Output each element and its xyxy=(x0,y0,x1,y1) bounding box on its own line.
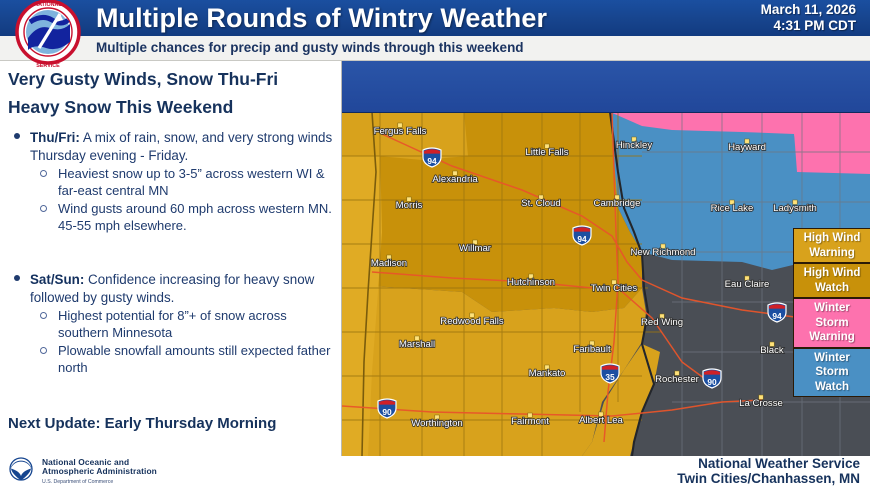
subbullet-text: Highest potential for 8”+ of snow across… xyxy=(58,308,287,340)
map-city-label: Hayward xyxy=(728,139,766,153)
header-date: March 11, 2026 xyxy=(646,2,856,18)
bullet-lead: Sat/Sun: xyxy=(30,272,84,287)
legend-label-line: Warning xyxy=(795,330,869,345)
headline-2: Heavy Snow This Weekend xyxy=(8,97,233,118)
subbullet-ring xyxy=(40,170,47,177)
svg-text:New Richmond: New Richmond xyxy=(630,247,695,258)
legend-item-winter-storm-watch[interactable]: Winter Storm Watch xyxy=(793,348,870,398)
subheader-text: Multiple chances for precip and gusty wi… xyxy=(96,36,524,60)
subbullet: Wind gusts around 60 mph across western … xyxy=(38,200,338,234)
map-city-label: Black xyxy=(760,342,784,356)
svg-text:Hutchinson: Hutchinson xyxy=(507,277,555,288)
subbullet-ring xyxy=(40,312,47,319)
svg-text:Rice Lake: Rice Lake xyxy=(711,203,754,214)
subbullet-text: Wind gusts around 60 mph across western … xyxy=(58,201,332,233)
svg-text:90: 90 xyxy=(382,407,392,417)
subbullet: Highest potential for 8”+ of snow across… xyxy=(38,307,338,341)
map-city-label: Willmar xyxy=(459,240,492,254)
left-text-panel: Very Gusty Winds, Snow Thu-Fri Heavy Sno… xyxy=(0,61,341,456)
legend-item-high-wind-watch[interactable]: High Wind Watch xyxy=(793,263,870,298)
svg-text:Cambridge: Cambridge xyxy=(594,198,641,209)
nws-office-text: National Weather Service Twin Cities/Cha… xyxy=(677,456,860,486)
svg-text:94: 94 xyxy=(427,156,437,166)
header-time: 4:31 PM CDT xyxy=(646,18,856,34)
map-city-label: Faribault xyxy=(573,341,611,355)
svg-text:Fergus Falls: Fergus Falls xyxy=(374,126,427,137)
legend-label-line: Winter xyxy=(795,351,869,366)
subbullet-text: Plowable snowfall amounts still expected… xyxy=(58,343,330,375)
bullet-dot xyxy=(14,133,20,139)
svg-text:NATIONAL: NATIONAL xyxy=(34,2,62,8)
svg-text:Hinckley: Hinckley xyxy=(616,140,652,151)
map-city-label: Rochester xyxy=(655,371,700,385)
map-title-bar xyxy=(342,61,870,113)
svg-text:Ladysmith: Ladysmith xyxy=(773,203,817,214)
nws-circular-logo-icon: NATIONAL SERVICE xyxy=(6,0,90,70)
svg-text:Willmar: Willmar xyxy=(459,243,492,254)
svg-text:SERVICE: SERVICE xyxy=(36,63,60,69)
svg-text:Marshall: Marshall xyxy=(399,339,435,350)
svg-text:Hayward: Hayward xyxy=(728,142,766,153)
legend-item-winter-storm-warning[interactable]: Winter Storm Warning xyxy=(793,298,870,348)
map-city-label: La Crosse xyxy=(739,395,783,409)
subbullet: Plowable snowfall amounts still expected… xyxy=(38,342,338,376)
interstate-shield-icon: 94 xyxy=(573,226,591,245)
legend-label-line: High Wind xyxy=(795,231,869,246)
interstate-shield-icon: 35 xyxy=(601,364,619,383)
legend-label-line: Warning xyxy=(795,246,869,261)
svg-text:90: 90 xyxy=(707,377,717,387)
map-legend: High Wind Warning High Wind Watch Winter… xyxy=(793,228,870,397)
svg-text:La Crosse: La Crosse xyxy=(739,398,783,409)
map-city-label: Twin Cities xyxy=(591,280,638,294)
legend-label-line: Watch xyxy=(795,281,869,296)
interstate-shield-icon: 90 xyxy=(703,369,721,388)
page-title: Multiple Rounds of Wintry Weather xyxy=(96,1,656,36)
map-city-label: Ladysmith xyxy=(773,200,817,214)
office-line-2: Twin Cities/Chanhassen, MN xyxy=(677,471,860,486)
map-city-label: Rice Lake xyxy=(711,200,754,214)
svg-text:Twin Cities: Twin Cities xyxy=(591,283,638,294)
map-city-label: Fairmont xyxy=(511,413,549,427)
subbullet-ring xyxy=(40,205,47,212)
interstate-shield-icon: 94 xyxy=(768,303,786,322)
map-city-label: Worthington xyxy=(411,415,463,429)
noaa-line-2: Atmospheric Administration xyxy=(42,467,157,476)
subbullet-text: Heaviest snow up to 3-5” across western … xyxy=(58,166,325,198)
subbullet: Heaviest snow up to 3-5” across western … xyxy=(38,165,338,199)
noaa-footer: NOAA National Oceanic and Atmospheric Ad… xyxy=(0,456,341,486)
map-graphic[interactable]: Fergus FallsAlexandriaLittle FallsMorris… xyxy=(342,112,870,456)
map-city-label: Mankato xyxy=(529,365,566,379)
svg-text:35: 35 xyxy=(605,372,615,382)
legend-item-high-wind-warning[interactable]: High Wind Warning xyxy=(793,228,870,263)
map-footer: National Weather Service Twin Cities/Cha… xyxy=(341,456,870,486)
svg-text:Eau Claire: Eau Claire xyxy=(725,279,770,290)
bullet-thu-fri: Thu/Fri: A mix of rain, snow, and very s… xyxy=(8,129,338,164)
svg-text:Red Wing: Red Wing xyxy=(641,317,683,328)
legend-label-line: Storm xyxy=(795,365,869,380)
svg-text:Albert Lea: Albert Lea xyxy=(579,415,623,426)
legend-label-line: Storm xyxy=(795,316,869,331)
header-datetime: March 11, 2026 4:31 PM CDT xyxy=(646,2,856,34)
noaa-agency-text: National Oceanic and Atmospheric Adminis… xyxy=(42,458,157,486)
noaa-line-3: U.S. Department of Commerce xyxy=(42,478,157,486)
svg-text:Morris: Morris xyxy=(396,200,423,211)
svg-text:NOAA: NOAA xyxy=(15,463,27,468)
legend-label-line: Winter xyxy=(795,301,869,316)
map-city-label: Red Wing xyxy=(641,314,683,328)
interstate-shield-icon: 94 xyxy=(423,148,441,167)
headline-1: Very Gusty Winds, Snow Thu-Fri xyxy=(8,69,278,90)
svg-text:St. Cloud: St. Cloud xyxy=(521,198,560,209)
noaa-seal-icon: NOAA xyxy=(6,457,36,485)
svg-text:Rochester: Rochester xyxy=(655,374,700,385)
svg-text:Mankato: Mankato xyxy=(529,368,566,379)
map-city-label: New Richmond xyxy=(630,244,695,258)
legend-label-line: Watch xyxy=(795,380,869,395)
office-line-1: National Weather Service xyxy=(677,456,860,471)
svg-text:Faribault: Faribault xyxy=(573,344,611,355)
svg-text:Black: Black xyxy=(760,345,784,356)
bullet-lead: Thu/Fri: xyxy=(30,130,80,145)
map-city-label: Redwood Falls xyxy=(440,313,504,327)
map-city-label: Eau Claire xyxy=(725,276,770,290)
map-city-label: Little Falls xyxy=(525,144,568,158)
watches-warnings-map[interactable]: Watches and Warnings Thursday Evening Th… xyxy=(341,61,870,456)
svg-text:Redwood Falls: Redwood Falls xyxy=(440,316,504,327)
bullet-group-sat-sun: Sat/Sun: Confidence increasing for heavy… xyxy=(8,271,338,376)
map-city-label: Alexandria xyxy=(432,171,478,185)
bullet-dot xyxy=(14,275,20,281)
map-city-label: Hutchinson xyxy=(507,274,555,288)
map-city-label: St. Cloud xyxy=(521,195,560,209)
legend-label-line: High Wind xyxy=(795,266,869,281)
map-city-label: Cambridge xyxy=(594,195,641,209)
svg-text:94: 94 xyxy=(577,234,587,244)
map-city-label: Morris xyxy=(396,197,423,211)
svg-text:Madison: Madison xyxy=(371,258,407,269)
svg-text:Worthington: Worthington xyxy=(411,418,463,429)
bullet-group-thu-fri: Thu/Fri: A mix of rain, snow, and very s… xyxy=(8,129,338,234)
svg-text:94: 94 xyxy=(772,311,782,321)
subbullet-ring xyxy=(40,347,47,354)
map-city-label: Albert Lea xyxy=(579,412,623,426)
svg-text:Little Falls: Little Falls xyxy=(525,147,568,158)
map-city-label: Hinckley xyxy=(616,137,652,151)
svg-text:Fairmont: Fairmont xyxy=(511,416,549,427)
svg-text:Alexandria: Alexandria xyxy=(432,174,478,185)
next-update-text: Next Update: Early Thursday Morning xyxy=(8,415,276,432)
map-city-label: Marshall xyxy=(399,336,435,350)
map-city-label: Fergus Falls xyxy=(374,123,427,137)
bullet-sat-sun: Sat/Sun: Confidence increasing for heavy… xyxy=(8,271,338,306)
map-city-label: Madison xyxy=(371,255,407,269)
interstate-shield-icon: 90 xyxy=(378,399,396,418)
